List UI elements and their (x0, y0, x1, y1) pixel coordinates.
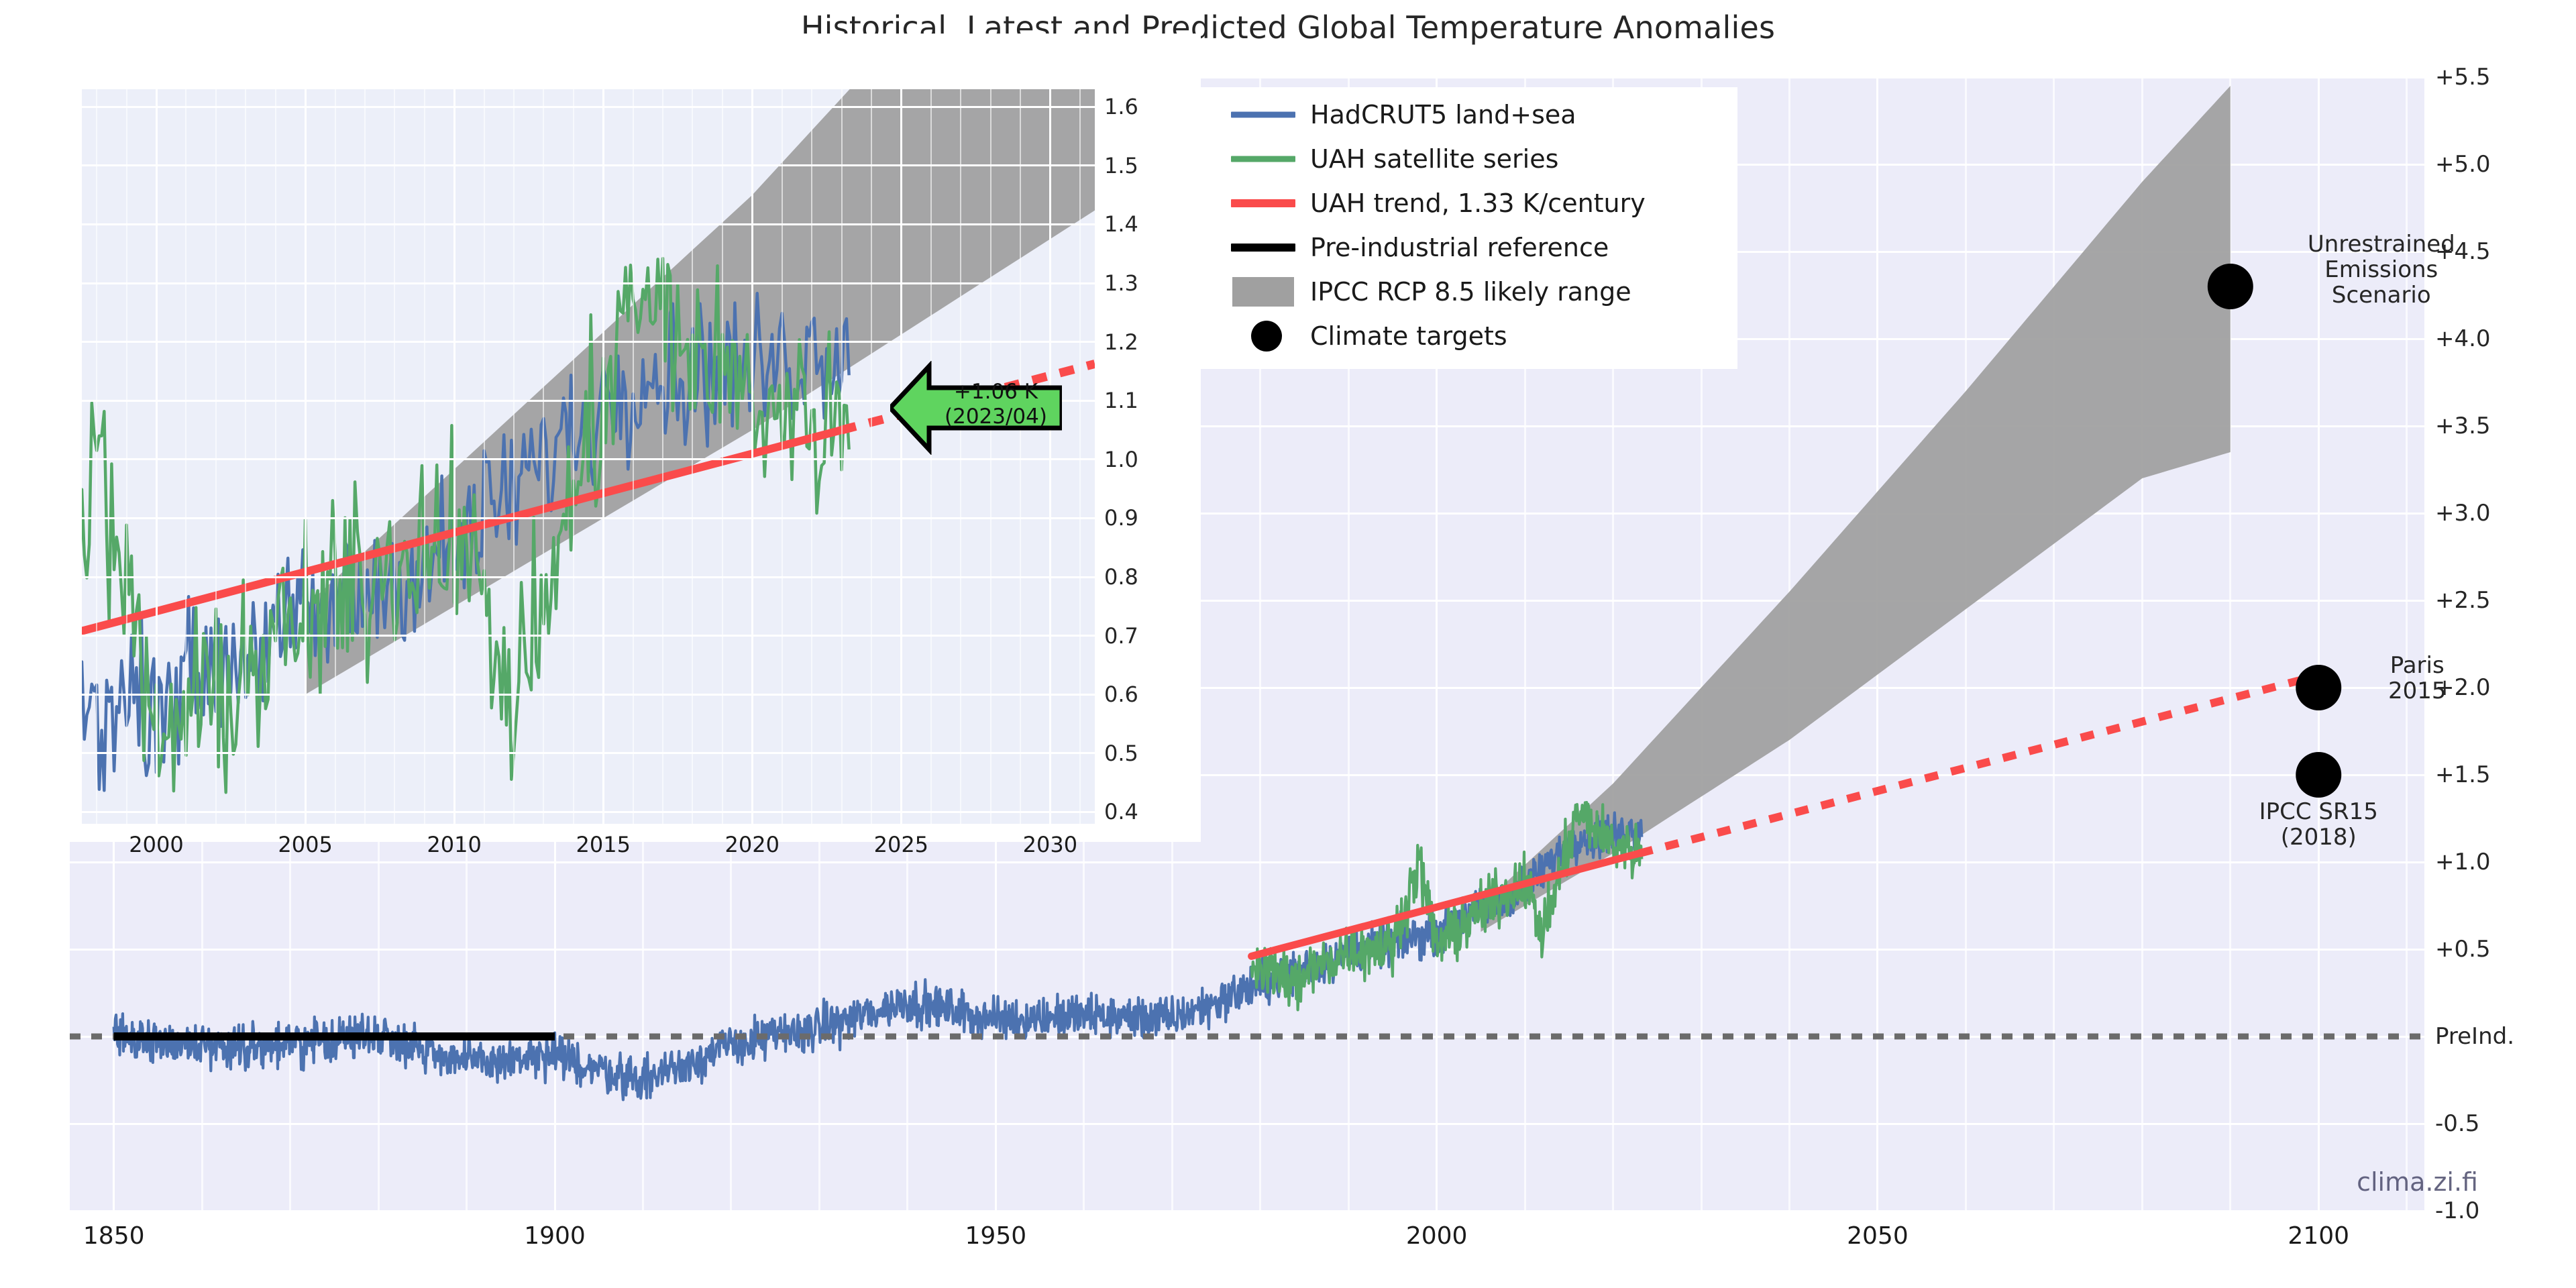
inset-gridline-vertical-minor (185, 89, 186, 824)
inset-gridline-vertical-minor (424, 89, 425, 824)
inset-gridline-vertical-minor (930, 89, 932, 824)
inset-gridline-vertical-minor (811, 89, 812, 824)
inset-gridline-vertical-minor (215, 89, 217, 824)
legend-swatch-line (1231, 137, 1295, 181)
inset-y-tick-label: 0.4 (1104, 799, 1138, 824)
legend-swatch-patch (1231, 270, 1295, 314)
inset-gridline-vertical-minor (275, 89, 276, 824)
main-y-tick-label: +4.0 (2435, 325, 2491, 352)
legend-swatch-dot (1231, 314, 1295, 358)
inset-gridline-vertical-minor (484, 89, 485, 824)
legend-line-swatch (1231, 244, 1295, 252)
legend-item-label: UAH satellite series (1310, 144, 1558, 174)
inset-gridline-vertical (751, 89, 753, 824)
main-y-tick-label: +1.5 (2435, 761, 2491, 788)
inset-gridline-horizontal (82, 517, 1095, 519)
main-x-tick-label: 2100 (2288, 1222, 2349, 1250)
inset-y-tick-label: 1.2 (1104, 329, 1138, 355)
inset-gridline-horizontal (82, 694, 1095, 696)
main-y-tick-label: PreInd. (2435, 1023, 2514, 1050)
inset-gridline-vertical-minor (633, 89, 634, 824)
legend-dot-swatch (1251, 321, 1282, 352)
legend-item[interactable]: IPCC RCP 8.5 likely range (1201, 270, 1737, 314)
inset-y-tick-label: 0.8 (1104, 564, 1138, 590)
climate-target-dot (2296, 665, 2341, 710)
main-y-tick-label: +3.0 (2435, 500, 2491, 527)
legend-item[interactable]: UAH satellite series (1201, 137, 1737, 181)
main-x-tick-label: 1900 (524, 1222, 586, 1250)
inset-plot-area (82, 89, 1095, 824)
inset-gridline-vertical (305, 89, 307, 824)
main-x-tick-label: 2000 (1406, 1222, 1468, 1250)
main-x-tick-label: 2050 (1847, 1222, 1909, 1250)
inset-gridline-vertical-minor (543, 89, 544, 824)
inset-gridline-vertical-minor (335, 89, 336, 824)
inset-gridline-vertical-minor (1079, 89, 1081, 824)
inset-gridline-vertical-minor (1020, 89, 1021, 824)
inset-gridline-vertical-minor (990, 89, 991, 824)
legend-item[interactable]: UAH trend, 1.33 K/century (1201, 181, 1737, 225)
inset-gridline-vertical-minor (841, 89, 843, 824)
climate-target-dot (2208, 264, 2253, 309)
inset-gridline-vertical-minor (364, 89, 366, 824)
main-y-tick-label: -0.5 (2435, 1110, 2479, 1137)
inset-y-tick-label: 1.4 (1104, 211, 1138, 237)
inset-gridline-horizontal (82, 458, 1095, 460)
inset-x-tick-label: 2000 (129, 832, 183, 857)
inset-gridline-horizontal (82, 223, 1095, 225)
target-label-unrestrained: Unrestrained Emissions Scenario (2271, 231, 2492, 308)
legend-item-label: IPCC RCP 8.5 likely range (1310, 277, 1631, 307)
inset-y-tick-label: 1.3 (1104, 270, 1138, 296)
inset-y-tick-label: 1.0 (1104, 447, 1138, 472)
inset-gridline-horizontal (82, 576, 1095, 578)
inset-gridline-horizontal (82, 106, 1095, 108)
main-y-tick-label: +5.5 (2435, 64, 2491, 91)
legend-item-label: Pre-industrial reference (1310, 233, 1609, 262)
legend-item[interactable]: Climate targets (1201, 314, 1737, 358)
inset-gridline-vertical-minor (692, 89, 693, 824)
legend-line-swatch (1231, 156, 1295, 162)
inset-chart-svg (82, 89, 1095, 824)
inset-gridline-horizontal (82, 752, 1095, 754)
inset-gridline-horizontal (82, 164, 1095, 166)
inset-y-tick-label: 1.5 (1104, 153, 1138, 178)
inset-gridline-vertical-minor (960, 89, 961, 824)
inset-gridline-vertical-minor (394, 89, 395, 824)
main-y-tick-label: +5.0 (2435, 151, 2491, 178)
legend-swatch-line (1231, 225, 1295, 270)
legend-patch-swatch (1232, 277, 1294, 307)
legend-swatch-line (1231, 181, 1295, 225)
legend-line-swatch (1231, 112, 1295, 118)
inset-y-tick-label: 0.7 (1104, 623, 1138, 649)
inset-gridline-horizontal (82, 341, 1095, 343)
inset-gridline-vertical (602, 89, 604, 824)
main-y-tick-label: +0.5 (2435, 936, 2491, 963)
inset-y-tick-label: 0.6 (1104, 682, 1138, 707)
chart-legend: HadCRUT5 land+seaUAH satellite seriesUAH… (1201, 87, 1737, 369)
inset-gridline-vertical-minor (722, 89, 723, 824)
legend-item-label: Climate targets (1310, 321, 1507, 351)
inset-gridline-horizontal (82, 635, 1095, 637)
inset-gridline-vertical-minor (245, 89, 246, 824)
inset-gridline-vertical-minor (513, 89, 515, 824)
legend-line-swatch (1231, 199, 1295, 207)
legend-item-label: HadCRUT5 land+sea (1310, 100, 1576, 129)
legend-item-label: UAH trend, 1.33 K/century (1310, 189, 1646, 218)
inset-gridline-vertical-minor (573, 89, 574, 824)
main-x-tick-label: 1850 (83, 1222, 145, 1250)
target-label-paris: Paris 2015 (2347, 653, 2487, 704)
inset-gridline-vertical-minor (126, 89, 127, 824)
inset-x-tick-label: 2020 (725, 832, 780, 857)
legend-swatch-line (1231, 93, 1295, 137)
inset-x-tick-label: 2015 (576, 832, 630, 857)
inset-gridline-vertical-minor (782, 89, 783, 824)
inset-gridline-vertical (156, 89, 158, 824)
inset-y-tick-label: 1.6 (1104, 94, 1138, 119)
inset-y-tick-label: 1.1 (1104, 388, 1138, 413)
inset-gridline-vertical (900, 89, 902, 824)
legend-item[interactable]: HadCRUT5 land+sea (1201, 93, 1737, 137)
inset-x-tick-label: 2005 (278, 832, 332, 857)
main-y-tick-label: +1.0 (2435, 849, 2491, 875)
main-x-tick-label: 1950 (965, 1222, 1027, 1250)
target-label-sr15: IPCC SR15 (2018) (2214, 799, 2422, 850)
inset-x-tick-label: 2010 (427, 832, 481, 857)
inset-gridline-vertical (1049, 89, 1051, 824)
inset-gridline-horizontal (82, 811, 1095, 813)
inset-gridline-vertical (453, 89, 455, 824)
inset-y-tick-label: 0.5 (1104, 741, 1138, 766)
inset-x-tick-label: 2030 (1023, 832, 1077, 857)
legend-item[interactable]: Pre-industrial reference (1201, 225, 1737, 270)
main-y-tick-label: +3.5 (2435, 413, 2491, 439)
inset-gridline-vertical-minor (662, 89, 663, 824)
inset-x-tick-label: 2025 (874, 832, 928, 857)
inset-gridline-horizontal (82, 282, 1095, 284)
climate-target-dot (2296, 752, 2341, 798)
inset-gridline-vertical-minor (871, 89, 872, 824)
inset-y-tick-label: 0.9 (1104, 505, 1138, 531)
main-y-tick-label: -1.0 (2435, 1197, 2479, 1224)
watermark: clima.zi.fi (2357, 1167, 2478, 1197)
inset-gridline-vertical-minor (96, 89, 97, 824)
main-y-tick-label: +2.5 (2435, 587, 2491, 614)
latest-anomaly-label: +1.06 K (2023/04) (934, 380, 1058, 429)
